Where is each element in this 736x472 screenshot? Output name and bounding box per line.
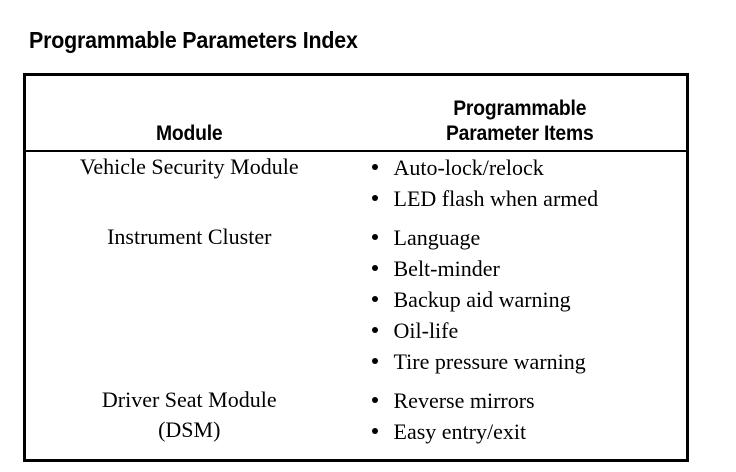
- parameter-items-list: Language Belt-minder Backup aid warning: [353, 222, 687, 377]
- list-item: Auto-lock/relock: [353, 152, 687, 183]
- list-item-label: Backup aid warning: [394, 287, 571, 312]
- bullet-icon: [372, 296, 378, 302]
- list-item: Tire pressure warning: [353, 346, 687, 377]
- bullet-icon: [372, 428, 378, 434]
- column-header-module-label: Module: [39, 121, 339, 146]
- programmable-parameters-table: Module Programmable Parameter Items Vehi…: [23, 73, 689, 462]
- module-cell: Driver Seat Module (DSM): [25, 385, 353, 460]
- table-header-row: Module Programmable Parameter Items: [25, 75, 688, 151]
- module-name-line1: Driver Seat Module: [26, 385, 353, 415]
- column-header-parameter-items-label-line1: Programmable: [366, 96, 673, 121]
- list-item-label: Oil-life: [394, 318, 459, 343]
- module-name-line1: Vehicle Security Module: [26, 152, 353, 182]
- bullet-icon: [372, 358, 378, 364]
- document-page: Programmable Parameters Index Module Pro…: [0, 0, 736, 472]
- column-header-module: Module: [25, 75, 353, 151]
- module-name-line2: (DSM): [26, 415, 353, 445]
- bullet-icon: [372, 164, 378, 170]
- parameter-items-list: Auto-lock/relock LED flash when armed: [353, 152, 687, 214]
- list-item: Reverse mirrors: [353, 385, 687, 416]
- parameter-items-list: Reverse mirrors Easy entry/exit: [353, 385, 687, 447]
- list-item: LED flash when armed: [353, 183, 687, 214]
- parameter-items-cell: Reverse mirrors Easy entry/exit: [353, 385, 688, 460]
- list-item-label: Easy entry/exit: [394, 419, 527, 444]
- table-row: Vehicle Security Module Auto-lock/relock…: [25, 151, 688, 222]
- table-row: Instrument Cluster Language Belt-minder: [25, 222, 688, 385]
- list-item-label: LED flash when armed: [394, 186, 599, 211]
- parameter-items-cell: Language Belt-minder Backup aid warning: [353, 222, 688, 385]
- bullet-icon: [372, 397, 378, 403]
- list-item-label: Language: [394, 225, 481, 250]
- list-item: Backup aid warning: [353, 284, 687, 315]
- bullet-icon: [372, 327, 378, 333]
- list-item-label: Auto-lock/relock: [394, 155, 544, 180]
- page-title: Programmable Parameters Index: [29, 27, 358, 53]
- bullet-icon: [372, 195, 378, 201]
- module-name-line1: Instrument Cluster: [26, 222, 353, 252]
- table-row: Driver Seat Module (DSM) Reverse mirrors…: [25, 385, 688, 460]
- list-item-label: Reverse mirrors: [394, 388, 535, 413]
- module-cell: Vehicle Security Module: [25, 151, 353, 222]
- bullet-icon: [372, 234, 378, 240]
- list-item: Easy entry/exit: [353, 416, 687, 447]
- list-item: Oil-life: [353, 315, 687, 346]
- list-item-label: Belt-minder: [394, 256, 500, 281]
- list-item-label: Tire pressure warning: [394, 349, 586, 374]
- parameter-items-cell: Auto-lock/relock LED flash when armed: [353, 151, 688, 222]
- column-header-parameter-items: Programmable Parameter Items: [353, 75, 688, 151]
- column-header-parameter-items-label-line2: Parameter Items: [366, 121, 673, 146]
- list-item: Belt-minder: [353, 253, 687, 284]
- bullet-icon: [372, 265, 378, 271]
- list-item: Language: [353, 222, 687, 253]
- module-cell: Instrument Cluster: [25, 222, 353, 385]
